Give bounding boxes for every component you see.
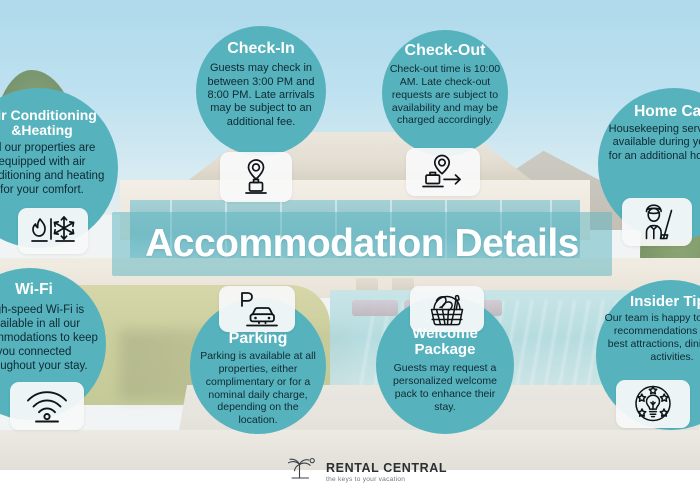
bubble-body: Housekeeping services are available duri…	[606, 123, 700, 163]
bubble-body: Check-out time is 10:00 AM. Late check-o…	[388, 63, 502, 127]
housekeeper-broom-icon	[622, 198, 692, 246]
lightbulb-stars-icon	[616, 380, 690, 428]
picnic-basket-icon	[410, 286, 484, 332]
bubble-title: Wi-Fi	[15, 282, 53, 299]
bubble-body: Parking is available at all properties, …	[198, 350, 318, 427]
bubble-title: Insider Tips	[630, 294, 700, 310]
suitcase-arrow-out-icon	[406, 148, 480, 196]
info-bubble-check-out: Check-Out Check-out time is 10:00 AM. La…	[382, 30, 508, 156]
logo-name: RENTAL CENTRAL	[326, 462, 447, 475]
page-title-banner: Accommodation Details	[112, 212, 612, 276]
info-bubble-check-in: Check-In Guests may check in between 3:0…	[196, 26, 326, 156]
logo-tagline: the keys to your vacation	[326, 477, 447, 484]
bubble-title: Air Conditioning &Heating	[0, 108, 112, 138]
palm-tree-icon	[285, 457, 319, 488]
bubble-title: Parking	[229, 330, 288, 347]
page-title: Accommodation Details	[145, 222, 579, 266]
infographic-canvas: Accommodation Details Air Conditioning &…	[0, 0, 700, 500]
location-pin-suitcase-icon	[220, 152, 292, 202]
bubble-title: Check-In	[227, 40, 295, 57]
bubble-body: High-speed Wi-Fi is available in all our…	[0, 303, 100, 373]
bubble-body: All our properties are equipped with air…	[0, 141, 112, 197]
brand-logo: RENTAL CENTRAL the keys to your vacation	[285, 457, 447, 488]
wifi-signal-icon	[10, 382, 84, 430]
flame-snowflake-icon	[18, 208, 88, 254]
bubble-body: Guests may check in between 3:00 PM and …	[204, 62, 318, 129]
bubble-title: Check-Out	[405, 42, 486, 59]
bubble-body: Our team is happy to provide recommendat…	[604, 312, 700, 363]
bubble-body: Guests may request a personalized welcom…	[384, 362, 506, 413]
parking-car-icon	[219, 286, 295, 332]
bubble-title: Home Care	[634, 104, 700, 121]
